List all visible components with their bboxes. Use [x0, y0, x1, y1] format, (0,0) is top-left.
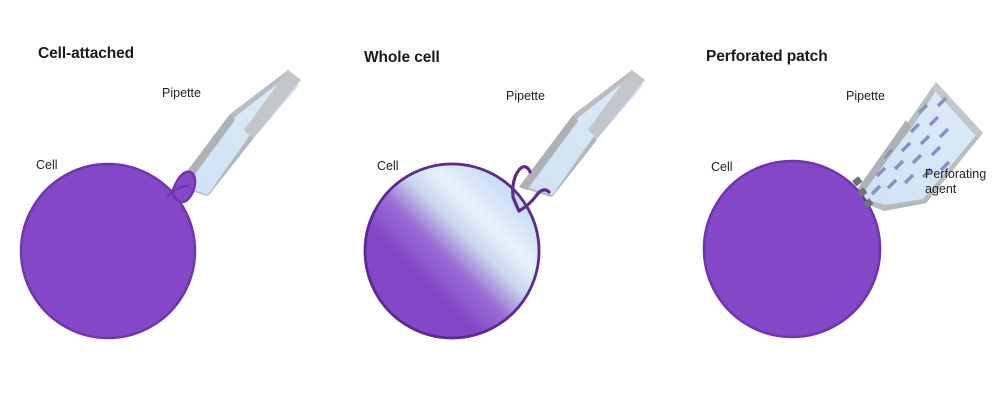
- panel-title-perforated-patch: Perforated patch: [706, 48, 828, 66]
- panel-title-whole-cell: Whole cell: [364, 49, 440, 67]
- figure-artwork: [0, 0, 1000, 400]
- cell-shape-2: [365, 164, 549, 338]
- panel-whole-cell-art: [365, 70, 645, 338]
- cell-label-1: Cell: [36, 158, 58, 173]
- perforating-agent-label: Perforating agent: [925, 167, 1000, 197]
- cell-shape-3: [704, 161, 880, 337]
- panel-title-cell-attached: Cell-attached: [38, 45, 134, 63]
- patch-clamp-figure: Cell-attached Cell Pipette Whole cell Ce…: [0, 0, 1000, 400]
- cell-shape-1: [21, 164, 195, 338]
- panel-cell-attached-art: [21, 70, 301, 338]
- panel-perforated-patch-art: [704, 82, 983, 337]
- pipette-label-3: Pipette: [846, 89, 885, 104]
- cell-label-3: Cell: [711, 160, 733, 175]
- pipette-label-1: Pipette: [162, 86, 201, 101]
- cell-label-2: Cell: [377, 159, 399, 174]
- pipette-label-2: Pipette: [506, 89, 545, 104]
